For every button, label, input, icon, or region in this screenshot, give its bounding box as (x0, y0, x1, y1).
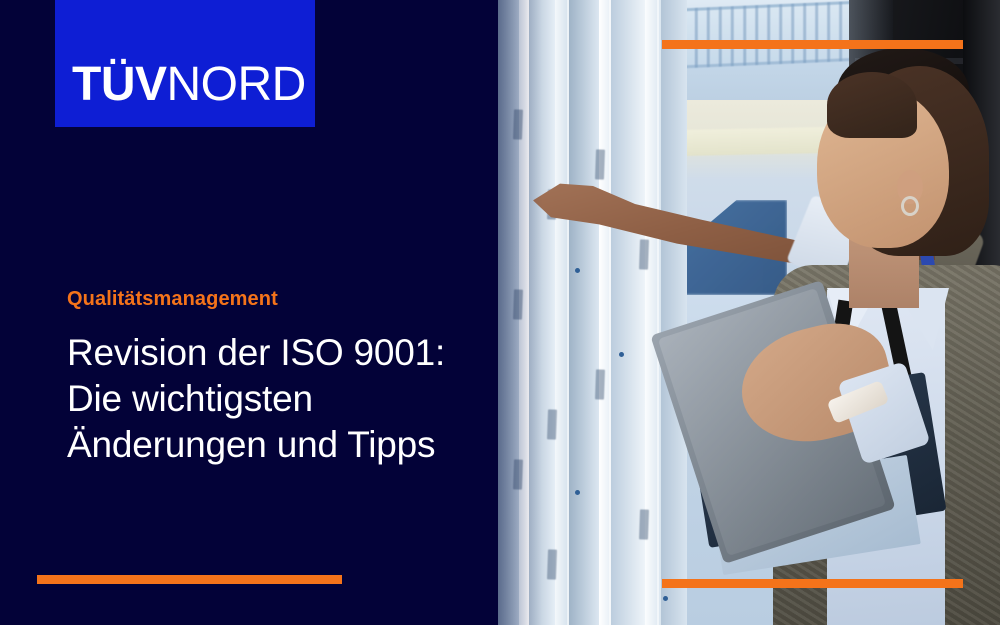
title-line-3: Änderungen und Tipps (67, 422, 487, 468)
logo-tuv-text: TÜV (72, 58, 167, 111)
accent-rule-bottom-left (37, 575, 342, 584)
hoop-earring-icon (901, 196, 919, 216)
tuev-nord-logo[interactable]: TÜVNORD (55, 0, 315, 127)
teaser-banner: TÜVNORD Qualitätsmanagement Revision der… (0, 0, 1000, 625)
woman-hair-front (827, 72, 917, 138)
accent-rule-bottom-right (662, 579, 963, 588)
rack-panel-row (497, 0, 687, 625)
title-line-1: Revision der ISO 9001: (67, 330, 487, 376)
hero-photo (497, 0, 1000, 625)
title-line-2: Die wichtigsten (67, 376, 487, 422)
logo-wordmark: TÜVNORD (55, 61, 306, 127)
page-title: Revision der ISO 9001: Die wichtigsten Ä… (67, 330, 487, 468)
category-kicker: Qualitätsmanagement (67, 288, 278, 311)
logo-nord-text: NORD (167, 58, 306, 111)
accent-rule-top-right (662, 40, 963, 49)
